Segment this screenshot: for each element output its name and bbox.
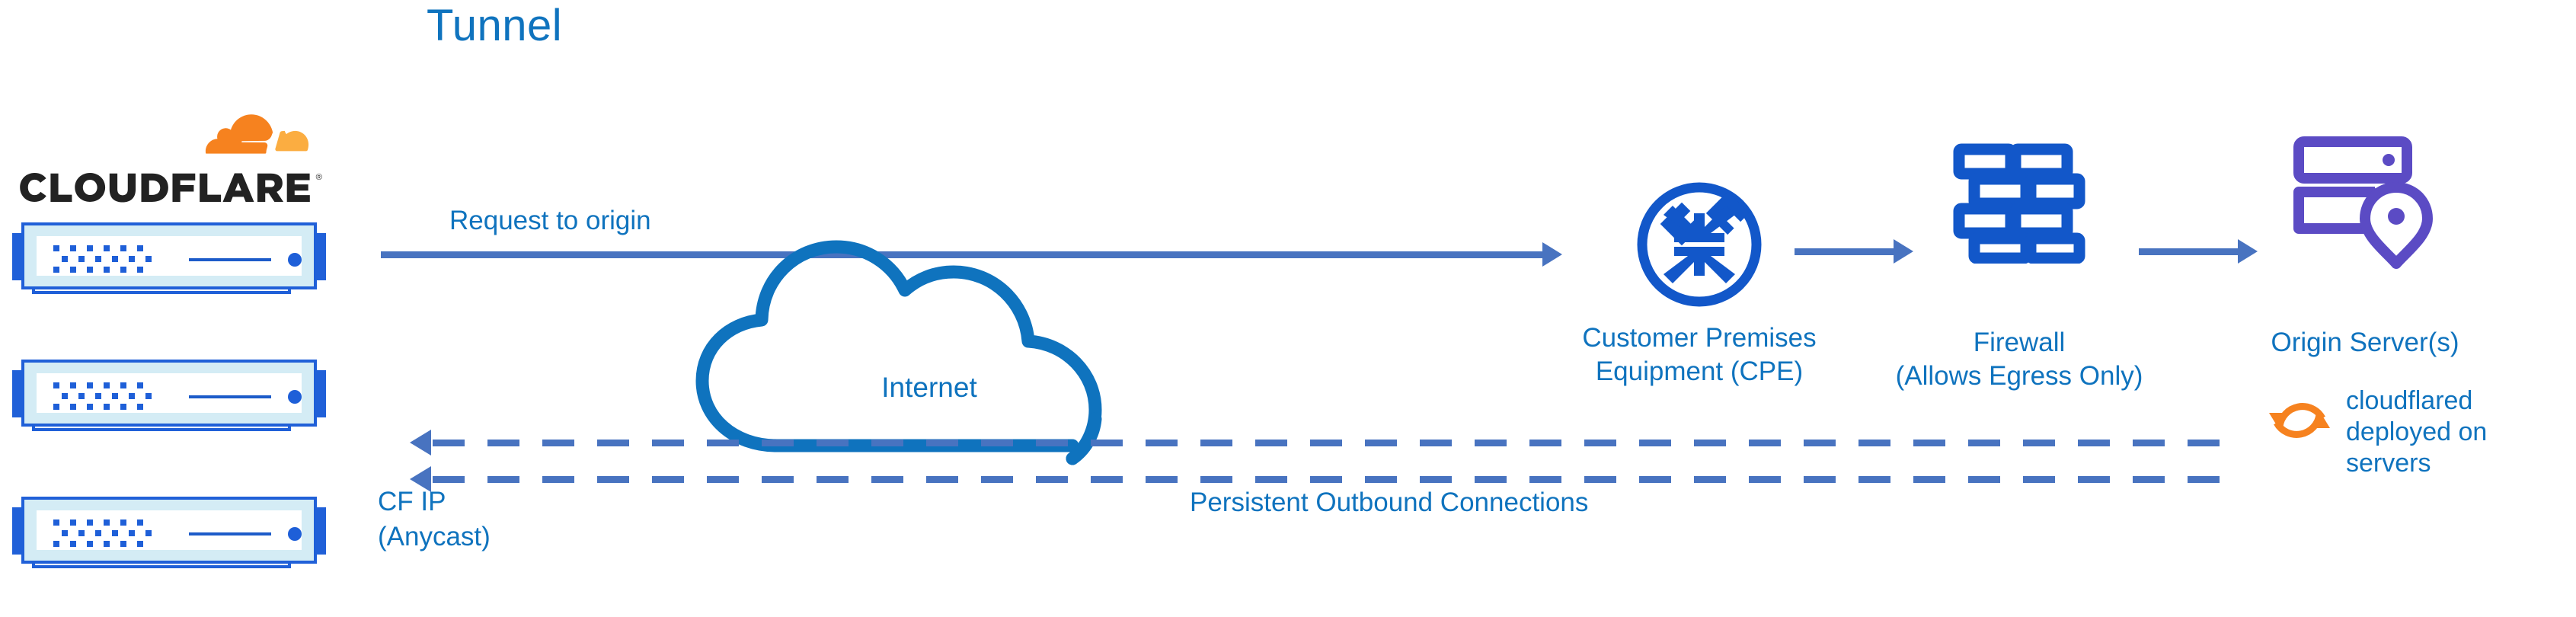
cloudflared-line3: servers [2346,448,2567,479]
origin-label-line1: Origin Server(s) [2236,326,2494,360]
persistent-outbound-connections-label: Persistent Outbound Connections [1190,486,1769,519]
return-arrowhead-1 [410,430,431,456]
server-panel [37,236,302,276]
sync-arrows-icon [2266,387,2333,454]
cloudflare-wordmark: ® [14,171,334,204]
origin-server-label: Origin Server(s) [2236,326,2494,360]
cloudflare-logo: ® [14,107,334,206]
internet-cloud: Internet [686,229,1173,472]
cf-ip-anycast-label: CF IP (Anycast) [378,484,591,555]
server-vent-dots [53,382,154,410]
cpe-label: Customer Premises Equipment (CPE) [1536,321,1863,388]
cloudflared-line2: deployed on [2346,417,2567,448]
firewall-to-origin-arrowhead [2238,239,2258,264]
server-vent-dots [53,245,154,273]
server-indicator-line [189,395,271,398]
brick-wall-icon [1950,142,2089,264]
server-vent-dots [53,519,154,547]
server-body [21,222,317,289]
edge-server-3 [9,494,329,570]
tunnel-diagram-canvas: Tunnel ® [0,0,2576,617]
server-status-led [288,527,302,541]
firewall-label-line1: Firewall [1871,326,2168,360]
cf-ip-line1: CF IP [378,484,591,519]
cloudflare-cloud-mark [174,107,315,171]
server-panel [37,510,302,550]
firewall-label: Firewall (Allows Egress Only) [1871,326,2168,393]
return-dashed-line-1 [433,440,2239,446]
svg-text:®: ® [316,173,323,182]
server-rack-pin-icon [2293,136,2437,269]
cloudflared-line1: cloudflared [2346,385,2567,417]
cpe-label-line2: Equipment (CPE) [1536,355,1863,388]
page-title: Tunnel [427,0,562,51]
server-status-led [288,390,302,404]
edge-server-1 [9,219,329,296]
server-panel [37,373,302,413]
firewall-to-origin-line [2139,248,2238,255]
converging-arrows-circle-icon [1635,180,1764,309]
cpe-to-firewall-arrowhead [1894,239,1913,264]
request-to-origin-arrowhead [1542,242,1562,267]
server-body [21,360,317,427]
cf-ip-line2: (Anycast) [378,519,591,555]
cpe-to-firewall-line [1795,248,1894,255]
server-status-led [288,253,302,267]
internet-label: Internet [686,372,1173,404]
edge-server-2 [9,356,329,433]
server-indicator-line [189,532,271,535]
return-dashed-line-2 [433,476,2239,483]
cpe-label-line1: Customer Premises [1536,321,1863,355]
cloudflared-label: cloudflared deployed on servers [2346,385,2567,479]
cloud-shape [686,229,1173,472]
server-indicator-line [189,258,271,261]
server-body [21,497,317,564]
firewall-label-line2: (Allows Egress Only) [1871,360,2168,393]
